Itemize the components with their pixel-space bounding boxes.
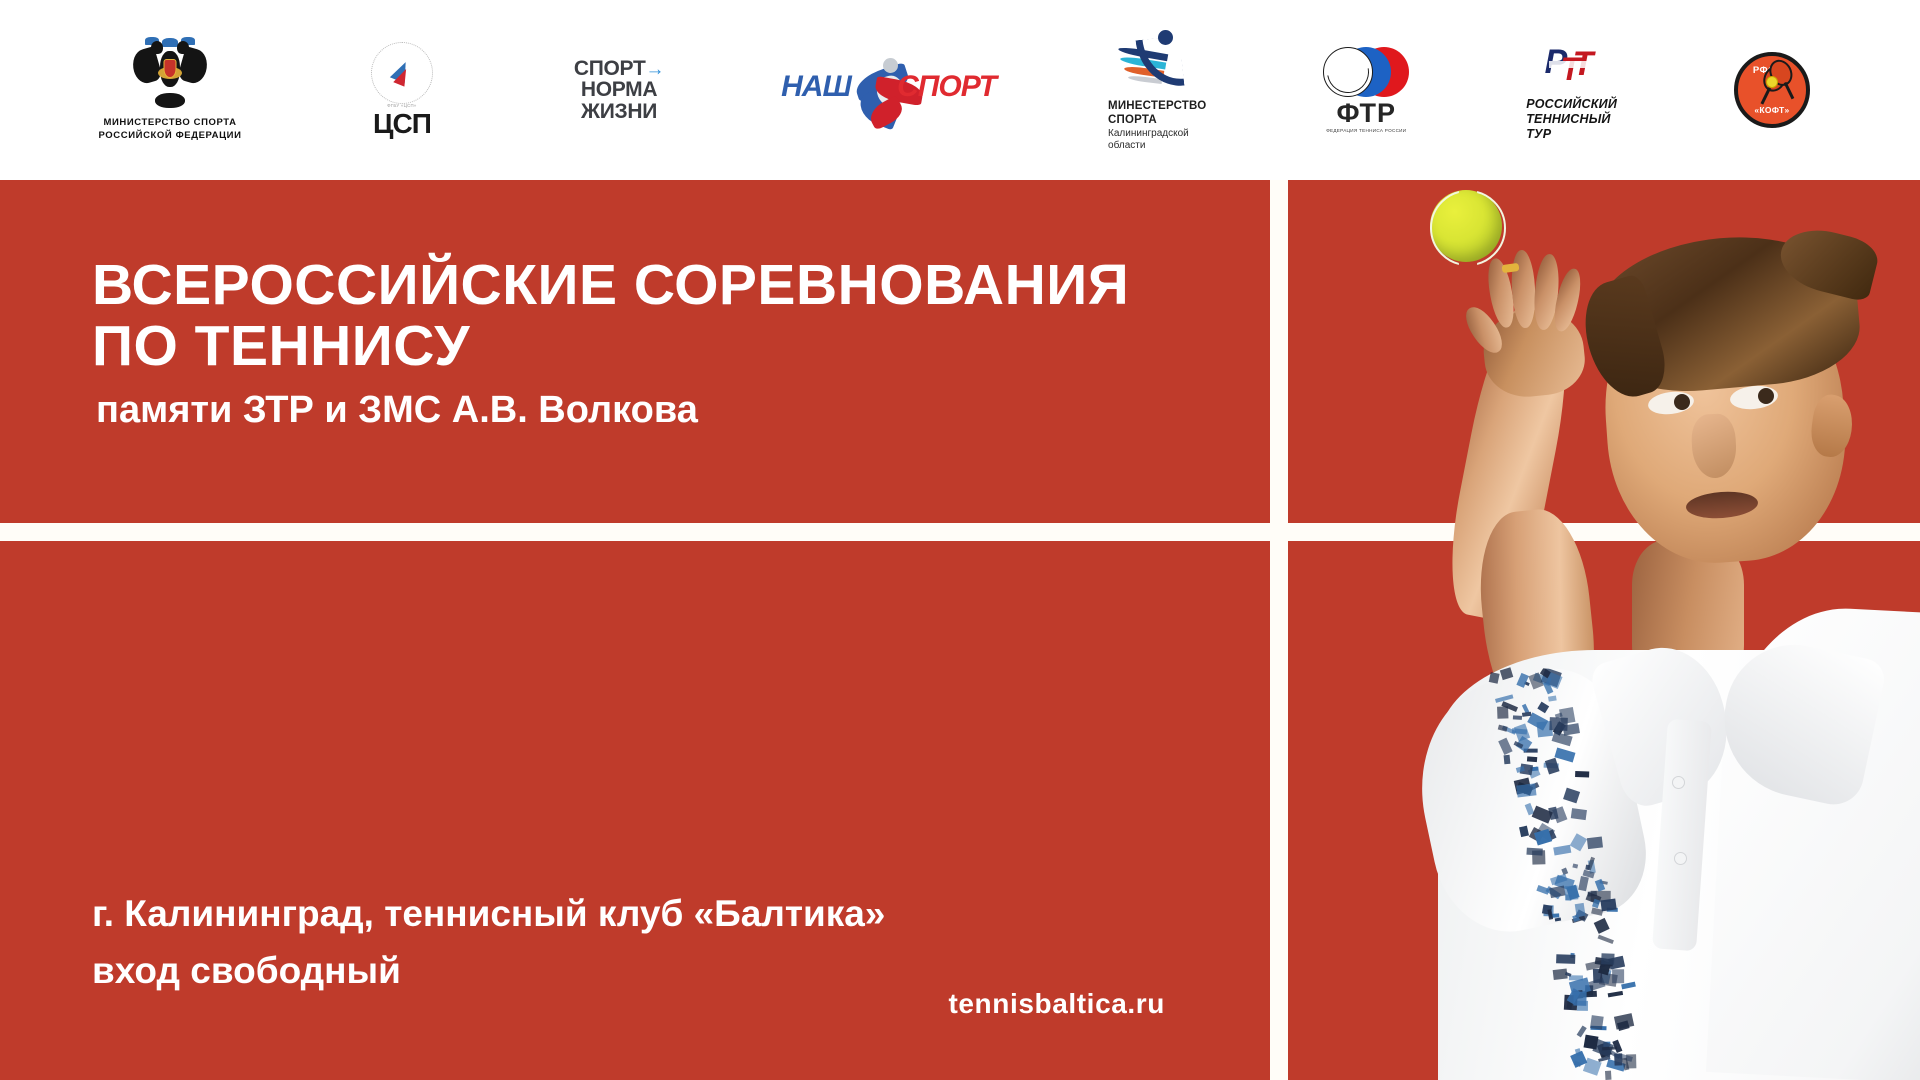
sponsor-logo-bar: МИНИСТЕРСТВО СПОРТА РОССИЙСКОЙ ФЕДЕРАЦИИ… bbox=[0, 0, 1920, 180]
logo-csp: ФГБУ «ЦСП» ЦСП bbox=[347, 42, 457, 138]
logo-minsport-rf-text: МИНИСТЕРСТВО СПОРТА РОССИЙСКОЙ ФЕДЕРАЦИИ bbox=[99, 117, 242, 143]
logo-sport-norma-zhizni: СПОРТ→ НОРМА ЖИЗНИ bbox=[574, 58, 664, 122]
tennis-player-photo bbox=[1288, 180, 1920, 1080]
subtitle: памяти ЗТР и ЗМС А.В. Волкова bbox=[96, 390, 1216, 432]
venue-block: г. Калининград, теннисный клуб «Балтика»… bbox=[92, 885, 1212, 1000]
player-shirt-button bbox=[1672, 776, 1685, 789]
logo-rtt-line3: ТУР bbox=[1526, 127, 1617, 142]
logo-mink-line2: СПОРТА bbox=[1108, 114, 1206, 128]
arrow-right-icon: → bbox=[646, 59, 665, 80]
title-line1: ВСЕРОССИЙСКИЕ СОРЕВНОВАНИЯ bbox=[92, 255, 1212, 316]
logo-mink-line4: области bbox=[1108, 140, 1206, 152]
logo-minsport-kaliningrad: МИНЕСТЕРСТВО СПОРТА Калининградской обла… bbox=[1108, 28, 1206, 151]
logo-koft-bottom: «КОФТ» bbox=[1738, 105, 1806, 115]
player-pupil bbox=[1674, 394, 1690, 410]
logo-nash-word: НАШ bbox=[781, 70, 851, 104]
csp-arrow-stars-icon bbox=[371, 42, 433, 104]
logo-mink-line1: МИНЕСТЕРСТВО bbox=[1108, 100, 1206, 114]
logo-rtt-line1: РОССИЙСКИЙ bbox=[1526, 97, 1617, 112]
poster: МИНИСТЕРСТВО СПОРТА РОССИЙСКОЙ ФЕДЕРАЦИИ… bbox=[0, 0, 1920, 1080]
logo-minsport-rf: МИНИСТЕРСТВО СПОРТА РОССИЙСКОЙ ФЕДЕРАЦИИ bbox=[110, 37, 230, 143]
logo-snz-line3: ЖИЗНИ bbox=[581, 101, 657, 122]
logo-ftr-wordmark: ФТР bbox=[1337, 100, 1397, 127]
logo-ftr-sub: ФЕДЕРАЦИЯ ТЕННИСА РОССИИ bbox=[1326, 128, 1406, 133]
tennis-ball-icon bbox=[1430, 190, 1502, 262]
rtt-monogram-icon: Р Т Т bbox=[1545, 39, 1599, 91]
logo-snz-line1: СПОРТ→ bbox=[574, 58, 664, 79]
venue-line1: г. Калининград, теннисный клуб «Балтика» bbox=[92, 885, 1212, 942]
logo-snz-line2: НОРМА bbox=[581, 79, 657, 100]
title-line2: ПО ТЕННИСУ bbox=[92, 316, 1212, 377]
logo-sport-word: СПОРТ bbox=[897, 70, 996, 104]
website-link[interactable]: tennisbaltica.ru bbox=[0, 988, 1200, 1020]
logo-rtt-line2: ТЕННИСНЫЙ bbox=[1526, 112, 1617, 127]
crossed-rackets-badge-icon: РФСОО «КОФТ» bbox=[1734, 52, 1810, 128]
logo-koft: РФСОО «КОФТ» bbox=[1734, 52, 1810, 128]
page-title: ВСЕРОССИЙСКИЕ СОРЕВНОВАНИЯ ПО ТЕННИСУ bbox=[92, 255, 1212, 377]
swoosh-figure-icon bbox=[1118, 28, 1196, 90]
logo-rtt: Р Т Т РОССИЙСКИЙ ТЕННИСНЫЙ ТУР bbox=[1526, 39, 1617, 142]
russian-coat-of-arms-icon bbox=[133, 37, 207, 107]
player-shirt-button bbox=[1674, 852, 1687, 865]
logo-ftr: ФТР ФЕДЕРАЦИЯ ТЕННИСА РОССИИ bbox=[1323, 47, 1409, 133]
logo-nash-sport: НАШ СПОРТ bbox=[781, 50, 991, 130]
logo-csp-wordmark: ЦСП bbox=[373, 110, 431, 138]
player-pupil bbox=[1758, 388, 1774, 404]
logo-minsport-rf-line1: МИНИСТЕРСТВО СПОРТА bbox=[99, 117, 242, 130]
logo-minsport-rf-line2: РОССИЙСКОЙ ФЕДЕРАЦИИ bbox=[99, 130, 242, 143]
logo-mink-line3: Калининградской bbox=[1108, 128, 1206, 140]
three-tennis-balls-icon bbox=[1323, 47, 1409, 97]
